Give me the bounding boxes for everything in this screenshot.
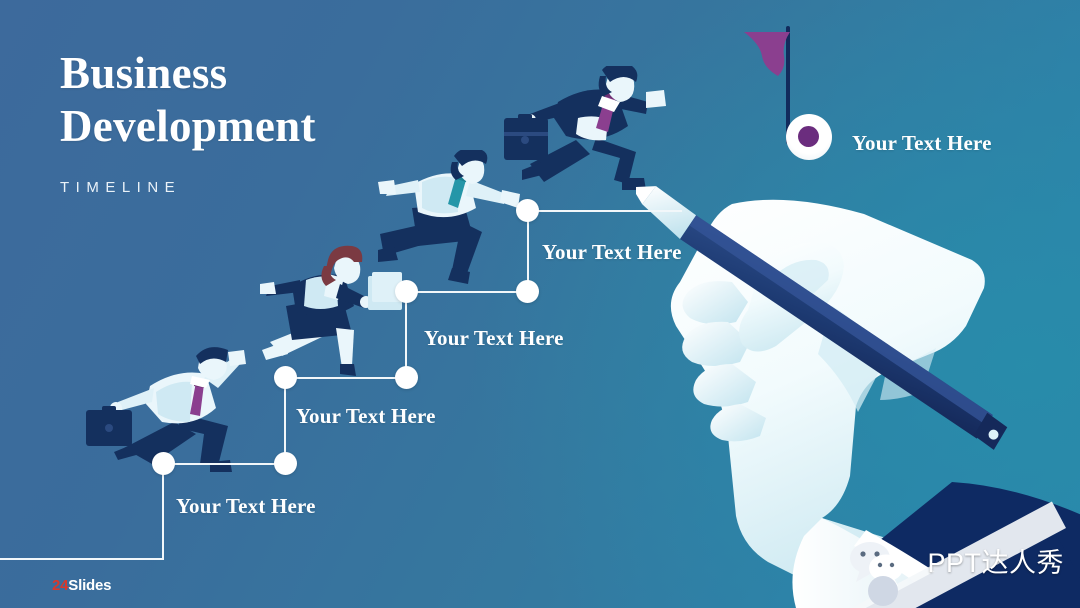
- page-title-line-1: Business: [60, 47, 316, 100]
- timeline-dot-3a[interactable]: [395, 280, 418, 303]
- timeline-line-level1: [166, 463, 286, 465]
- title-block: Business Development TIMELINE: [60, 47, 316, 196]
- watermark-dot: [868, 576, 898, 606]
- timeline-line-baseline: [0, 558, 164, 560]
- timeline-dot-1b[interactable]: [274, 452, 297, 475]
- step-label-1: Your Text Here: [176, 494, 316, 519]
- step-label-2: Your Text Here: [296, 404, 436, 429]
- page-subtitle: TIMELINE: [60, 179, 316, 196]
- timeline-dot-2b[interactable]: [395, 366, 418, 389]
- runner-businessman-briefcase: [78, 330, 263, 475]
- timeline-drop-level1: [162, 469, 164, 559]
- page-title-line-2: Development: [60, 100, 316, 153]
- timeline-dot-4a[interactable]: [516, 199, 539, 222]
- timeline-line-level2: [288, 377, 408, 379]
- step-label-3: Your Text Here: [424, 326, 564, 351]
- brand-logo-24slides[interactable]: 24Slides: [52, 577, 111, 594]
- brand-logo-number: 24: [52, 577, 68, 594]
- timeline-line-level3: [410, 291, 530, 293]
- flag-icon: [742, 26, 794, 78]
- timeline-line-level4: [534, 210, 682, 212]
- timeline-dot-3b[interactable]: [516, 280, 539, 303]
- slide-canvas: Business Development TIMELINE: [0, 0, 1080, 608]
- timeline-drop-level3: [405, 297, 407, 375]
- goal-label: Your Text Here: [852, 131, 992, 156]
- timeline-dot-1a[interactable]: [152, 452, 175, 475]
- timeline-dot-2a[interactable]: [274, 366, 297, 389]
- brand-logo-word: Slides: [68, 577, 111, 594]
- goal-hole-center: [798, 126, 819, 147]
- step-label-4: Your Text Here: [542, 240, 682, 265]
- watermark-text: PPT达人秀: [927, 541, 1064, 580]
